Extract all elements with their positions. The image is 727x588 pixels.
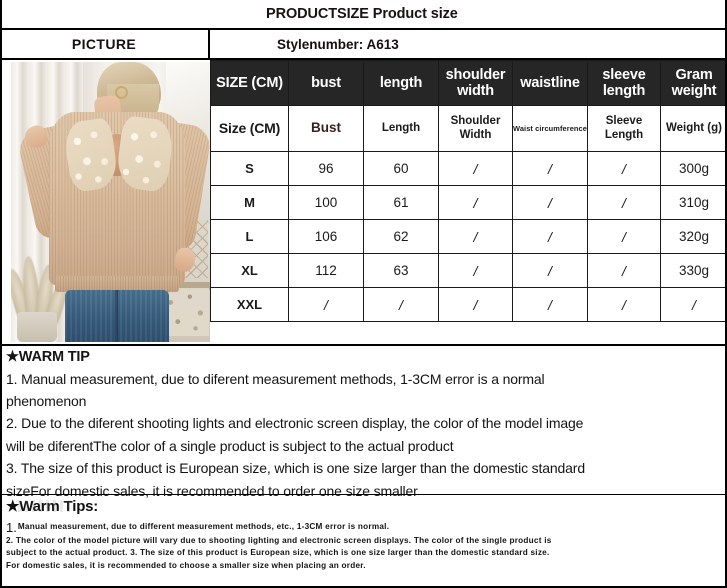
cell-weight: / bbox=[661, 288, 727, 322]
warm-tips-small-heading: ★Warm Tips: bbox=[6, 498, 727, 517]
warm-tip-section: ★WARM TIP 1. Manual measurement, due to … bbox=[0, 344, 727, 502]
cell-shoulder-width: / bbox=[439, 288, 513, 322]
cell-sleeve-length: / bbox=[588, 254, 661, 288]
table-header-row-secondary: Size (CM) Bust Length Shoulder Width Wai… bbox=[211, 106, 727, 152]
subheader-sleeve-length: Sleeve Length bbox=[588, 106, 661, 152]
cell-waist: / bbox=[513, 220, 588, 254]
header-sleeve-length: sleeve length bbox=[588, 61, 661, 106]
model-jeans-texture bbox=[65, 290, 169, 342]
picture-label: PICTURE bbox=[72, 36, 136, 52]
warm-tip-line: 2. Due to the diferent shooting lights a… bbox=[6, 412, 727, 434]
cell-size: XL bbox=[211, 254, 289, 288]
cell-sleeve-length: / bbox=[588, 152, 661, 186]
cell-weight: 300g bbox=[661, 152, 727, 186]
style-number-cell: Stylenumber: A613 bbox=[210, 30, 727, 58]
cell-shoulder-width: / bbox=[439, 220, 513, 254]
product-size-sheet: PRODUCTSIZE Product size PICTURE Stylenu… bbox=[0, 0, 727, 588]
subheader-size: Size (CM) bbox=[211, 106, 289, 152]
warm-tips-small-section: ★Warm Tips: 1. Manual measurement, due t… bbox=[0, 494, 727, 573]
cell-length: 60 bbox=[364, 152, 439, 186]
table-header-row-primary: SIZE (CM) bust length shoulder width wai… bbox=[211, 61, 727, 106]
cell-sleeve-length: / bbox=[588, 220, 661, 254]
cell-weight: 330g bbox=[661, 254, 727, 288]
title-bar: PRODUCTSIZE Product size bbox=[0, 0, 727, 30]
cell-weight: 310g bbox=[661, 186, 727, 220]
cell-length: / bbox=[364, 288, 439, 322]
cell-bust: 106 bbox=[289, 220, 364, 254]
cell-size: XXL bbox=[211, 288, 289, 322]
cell-waist: / bbox=[513, 254, 588, 288]
subheader-length: Length bbox=[364, 106, 439, 152]
warm-tips-small-line: subject to the actual product. 3. The si… bbox=[6, 547, 727, 560]
cell-bust: 112 bbox=[289, 254, 364, 288]
table-row: S 96 60 / / / 300g bbox=[211, 152, 727, 186]
cell-shoulder-width: / bbox=[439, 254, 513, 288]
warm-tip-line: 1. Manual measurement, due to diferent m… bbox=[6, 368, 727, 390]
cell-bust: 100 bbox=[289, 186, 364, 220]
cell-shoulder-width: / bbox=[439, 186, 513, 220]
cell-shoulder-width: / bbox=[439, 152, 513, 186]
cell-size: M bbox=[211, 186, 289, 220]
product-photo bbox=[11, 62, 210, 342]
table-row: XXL / / / / / / bbox=[211, 288, 727, 322]
header-length: length bbox=[364, 61, 439, 106]
warm-tips-small-item-number: 1. bbox=[6, 521, 17, 534]
table-row: XL 112 63 / / / 330g bbox=[211, 254, 727, 288]
warm-tips-small-item-1: 1. Manual measurement, due to different … bbox=[6, 521, 727, 534]
page-title: PRODUCTSIZE Product size bbox=[266, 6, 458, 22]
style-number-row: PICTURE Stylenumber: A613 bbox=[0, 30, 727, 60]
model-figure bbox=[11, 62, 210, 342]
picture-header-cell: PICTURE bbox=[0, 30, 210, 58]
header-gram-weight: Gram weight bbox=[661, 61, 727, 106]
product-photo-inner bbox=[11, 62, 210, 342]
cell-waist: / bbox=[513, 186, 588, 220]
table-row: L 106 62 / / / 320g bbox=[211, 220, 727, 254]
cell-length: 62 bbox=[364, 220, 439, 254]
size-chart-table: SIZE (CM) bust length shoulder width wai… bbox=[210, 60, 727, 322]
header-waistline: waistline bbox=[513, 61, 588, 106]
warm-tip-line: phenomenon bbox=[6, 390, 727, 412]
header-bust: bust bbox=[289, 61, 364, 106]
warm-tips-small-line: 2. The color of the model picture will v… bbox=[6, 535, 727, 548]
subheader-weight: Weight (g) bbox=[661, 106, 727, 152]
frame-border-left bbox=[0, 0, 2, 588]
cell-sleeve-length: / bbox=[588, 186, 661, 220]
warm-tip-heading: ★WARM TIP bbox=[6, 348, 727, 368]
cell-waist: / bbox=[513, 152, 588, 186]
cell-size: L bbox=[211, 220, 289, 254]
cell-bust: 96 bbox=[289, 152, 364, 186]
warm-tip-line: 3. The size of this product is European … bbox=[6, 457, 727, 479]
subheader-bust: Bust bbox=[289, 106, 364, 152]
cell-length: 63 bbox=[364, 254, 439, 288]
table-row: M 100 61 / / / 310g bbox=[211, 186, 727, 220]
header-size: SIZE (CM) bbox=[211, 61, 289, 106]
cell-weight: 320g bbox=[661, 220, 727, 254]
cell-length: 61 bbox=[364, 186, 439, 220]
hoop-earring-icon bbox=[115, 86, 128, 99]
cell-sleeve-length: / bbox=[588, 288, 661, 322]
cell-bust: / bbox=[289, 288, 364, 322]
subheader-shoulder-width: Shoulder Width bbox=[439, 106, 513, 152]
cell-size: S bbox=[211, 152, 289, 186]
subheader-waist-circumference: Waist circumference bbox=[513, 106, 588, 152]
header-shoulder-width: shoulder width bbox=[439, 61, 513, 106]
warm-tips-small-item-text: Manual measurement, due to different mea… bbox=[18, 521, 389, 534]
warm-tips-small-line: For domestic sales, it is recommended to… bbox=[6, 560, 727, 573]
warm-tip-line: will be diferentThe color of a single pr… bbox=[6, 435, 727, 457]
cell-waist: / bbox=[513, 288, 588, 322]
style-number-value: Stylenumber: A613 bbox=[277, 37, 399, 52]
